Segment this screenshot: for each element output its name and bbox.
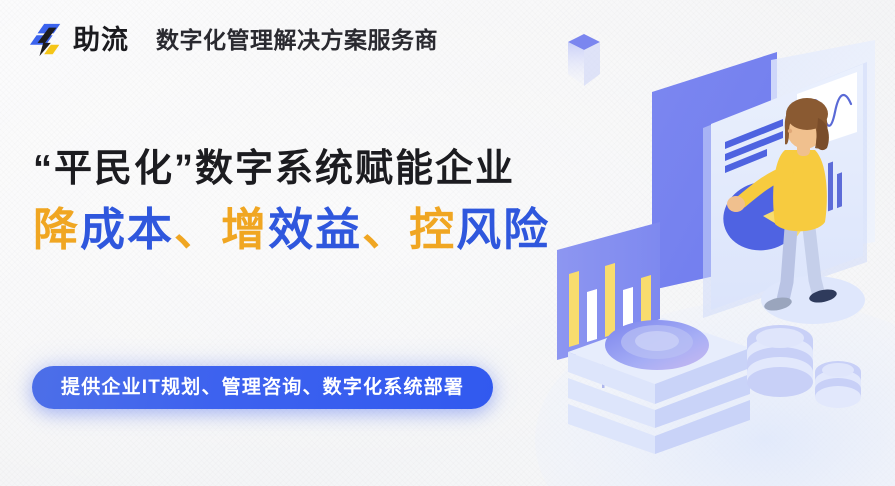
services-cta-label: 提供企业IT规划、管理咨询、数字化系统部署 — [61, 378, 464, 397]
subhead-segment-0: 降 — [33, 204, 80, 255]
coin-stack-large — [747, 325, 813, 397]
zhuliu-bolt-logo-icon — [28, 22, 66, 58]
brand-header: 助流 数字化管理解决方案服务商 — [28, 22, 438, 58]
floating-cube-icon — [568, 34, 600, 86]
subhead-segment-6: 控 — [409, 204, 456, 255]
services-cta-pill[interactable]: 提供企业IT规划、管理咨询、数字化系统部署 — [32, 366, 493, 409]
subhead-segment-2: 、 — [174, 204, 221, 255]
subhead-segment-5: 、 — [362, 204, 409, 255]
hero-copy: “平民化”数字系统赋能企业 降成本、增效益、控风险 — [33, 148, 550, 254]
brand-tagline: 数字化管理解决方案服务商 — [156, 29, 438, 52]
subhead-segment-3: 增 — [221, 204, 268, 255]
hero-banner: 助流 数字化管理解决方案服务商 “平民化”数字系统赋能企业 降成本、增效益、控风… — [0, 0, 895, 486]
coin-stack-small — [815, 361, 861, 408]
subhead-segment-1: 成本 — [80, 204, 174, 255]
subhead-segment-4: 效益 — [268, 204, 362, 255]
hero-subhead: 降成本、增效益、控风险 — [33, 205, 550, 255]
page-title: “平民化”数字系统赋能企业 — [33, 148, 550, 191]
illustration-panel — [535, 0, 895, 486]
brand-name: 助流 — [73, 27, 129, 54]
isometric-data-dashboard-illustration — [535, 0, 895, 486]
subhead-segment-7: 风险 — [456, 204, 550, 255]
